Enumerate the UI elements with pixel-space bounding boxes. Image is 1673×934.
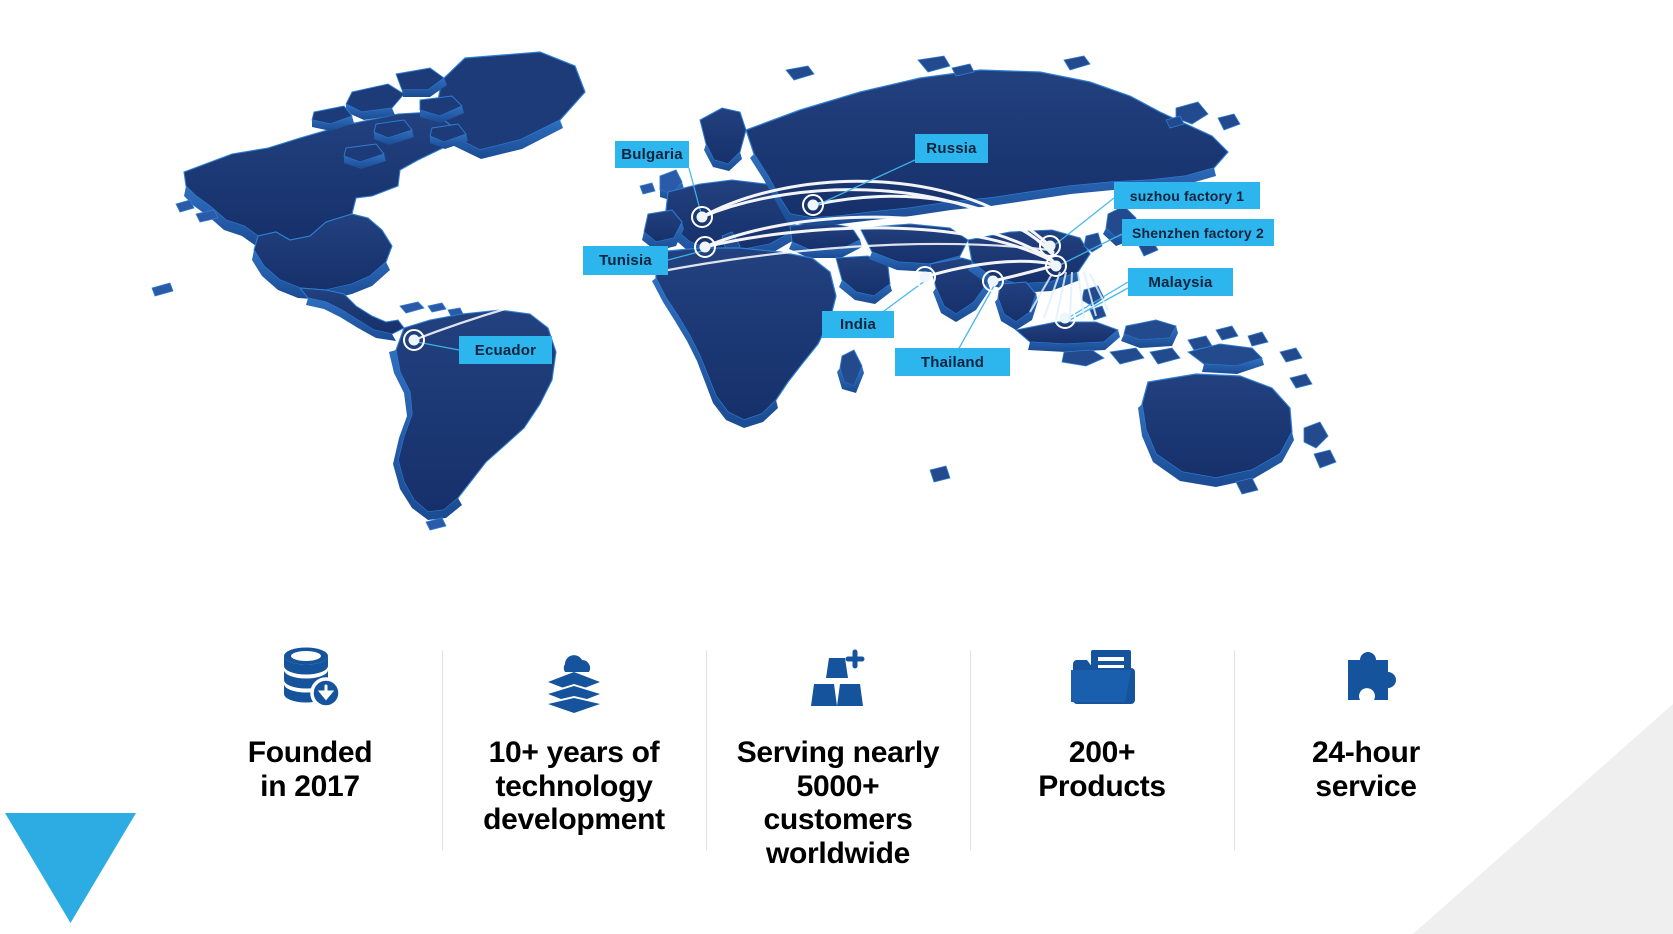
stat-label-technology: 10+ years of technology development: [483, 736, 665, 837]
folder-document-icon: [1065, 636, 1139, 714]
map-label-malaysia[interactable]: Malaysia: [1128, 268, 1233, 296]
map-label-india[interactable]: India: [822, 311, 894, 338]
map-label-russia[interactable]: Russia: [915, 134, 988, 163]
stat-service: 24-hour service: [1234, 628, 1498, 918]
stat-label-customers: Serving nearly 5000+ customers worldwide: [737, 736, 940, 870]
stats-row: Founded in 2017 10+ years of technology …: [178, 628, 1498, 918]
slide-canvas: Bulgaria Russia suzhou factory 1 Shenzhe…: [0, 0, 1673, 934]
stat-technology: 10+ years of technology development: [442, 628, 706, 918]
map-label-tunisia[interactable]: Tunisia: [583, 246, 668, 275]
stat-founded: Founded in 2017: [178, 628, 442, 918]
map-label-ecuador[interactable]: Ecuador: [459, 336, 552, 364]
map-label-shenzhen-factory-2[interactable]: Shenzhen factory 2: [1122, 219, 1274, 246]
layers-cloud-icon: [538, 636, 610, 714]
puzzle-piece-icon: [1330, 636, 1402, 714]
stat-products: 200+ Products: [970, 628, 1234, 918]
stat-customers: Serving nearly 5000+ customers worldwide: [706, 628, 970, 918]
world-map-graphic: [0, 0, 1673, 610]
decor-triangle-bottom-left: [5, 813, 136, 923]
world-map-region: Bulgaria Russia suzhou factory 1 Shenzhe…: [0, 0, 1673, 610]
stat-label-service: 24-hour service: [1312, 736, 1420, 803]
map-label-suzhou-factory-1[interactable]: suzhou factory 1: [1114, 182, 1260, 209]
stat-label-founded: Founded in 2017: [248, 736, 373, 803]
map-label-bulgaria[interactable]: Bulgaria: [615, 141, 689, 168]
stat-label-products: 200+ Products: [1038, 736, 1166, 803]
blocks-plus-icon: [802, 636, 874, 714]
map-label-thailand[interactable]: Thailand: [895, 348, 1010, 376]
database-download-icon: [274, 636, 346, 714]
